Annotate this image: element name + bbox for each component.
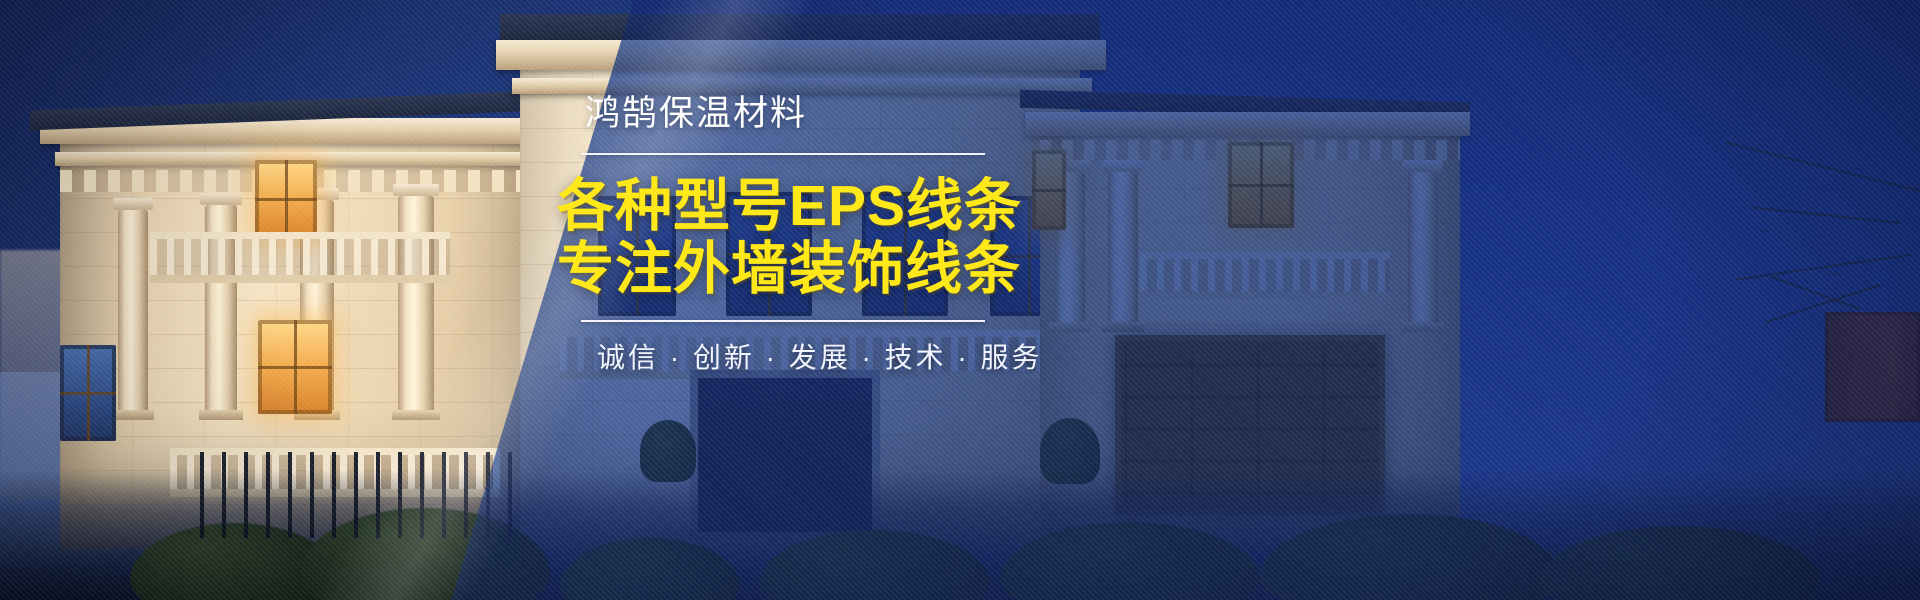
window bbox=[60, 345, 116, 441]
promo-banner: 鸿鹄保温材料 各种型号EPS线条 专注外墙装饰线条 诚信 · 创新 · 发展 ·… bbox=[0, 0, 1920, 600]
column bbox=[118, 210, 148, 410]
divider-top bbox=[581, 153, 985, 155]
headline-line-2: 专注外墙装饰线条 bbox=[557, 240, 987, 299]
column bbox=[398, 196, 434, 410]
banner-copy: 鸿鹄保温材料 各种型号EPS线条 专注外墙装饰线条 诚信 · 创新 · 发展 ·… bbox=[557, 96, 987, 372]
headline-line-1: 各种型号EPS线条 bbox=[557, 177, 987, 236]
balustrade bbox=[150, 232, 450, 283]
lit-window bbox=[258, 320, 332, 414]
brand-name: 鸿鹄保温材料 bbox=[585, 96, 987, 131]
divider-bottom bbox=[581, 320, 985, 322]
lit-window bbox=[255, 160, 317, 238]
headline: 各种型号EPS线条 专注外墙装饰线条 bbox=[557, 177, 987, 300]
tagline: 诚信 · 创新 · 发展 · 技术 · 服务 bbox=[597, 344, 987, 372]
